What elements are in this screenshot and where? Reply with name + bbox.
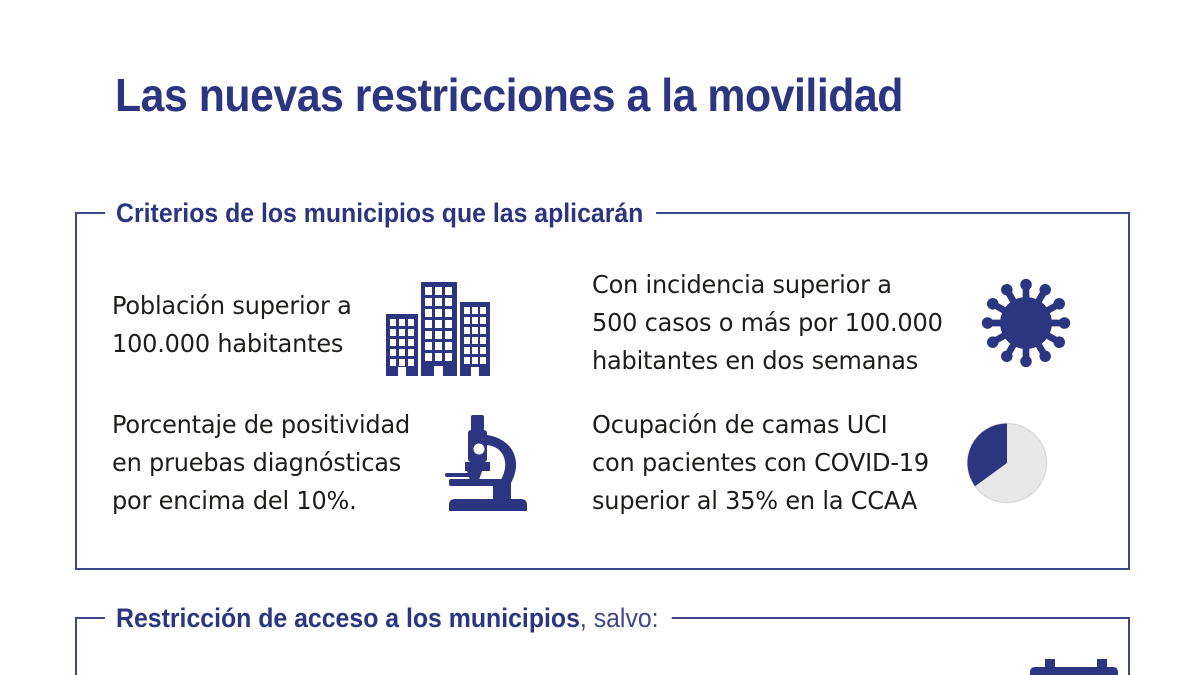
page-title: Las nuevas restricciones a la movilidad (115, 68, 903, 122)
criterion-incidencia-text: Con incidencia superior a 500 casos o má… (592, 266, 943, 380)
criterion-incidencia: Con incidencia superior a 500 casos o má… (592, 266, 1102, 380)
criterion-positividad: Porcentaje de positividad en pruebas dia… (112, 406, 582, 520)
criterion-positividad-line-2: en pruebas diagnósticas (112, 444, 410, 482)
criterion-uci-line-3: superior al 35% en la CCAA (592, 482, 929, 520)
criterion-poblacion-text: Población superior a 100.000 habitantes (112, 287, 352, 363)
criterion-uci-line-1: Ocupación de camas UCI (592, 406, 929, 444)
section-criterios: Criterios de los municipios que las apli… (75, 212, 1130, 570)
criterion-incidencia-line-2: 500 casos o más por 100.000 (592, 304, 943, 342)
criterion-poblacion-line-2: 100.000 habitantes (112, 325, 352, 363)
pie-chart-svg (964, 420, 1050, 506)
criterion-uci: Ocupación de camas UCI con pacientes con… (592, 406, 1102, 520)
section-restriccion-header-light: , salvo: (580, 603, 659, 633)
section-restriccion: Restricción de acceso a los municipios, … (75, 617, 1130, 675)
criterion-poblacion: Población superior a 100.000 habitantes (112, 266, 582, 384)
criterion-positividad-text: Porcentaje de positividad en pruebas dia… (112, 406, 410, 520)
criterion-incidencia-line-3: habitantes en dos semanas (592, 342, 943, 380)
section-restriccion-header: Restricción de acceso a los municipios, … (105, 602, 671, 634)
criterion-incidencia-line-1: Con incidencia superior a (592, 266, 943, 304)
criterion-uci-line-2: con pacientes con COVID-19 (592, 444, 929, 482)
section-restriccion-header-bold: Restricción de acceso a los municipios (116, 603, 580, 633)
pie-chart-icon (957, 420, 1057, 506)
criterion-positividad-line-1: Porcentaje de positividad (112, 406, 410, 444)
criterion-positividad-line-3: por encima del 10%. (112, 482, 410, 520)
criteria-grid: Población superior a 100.000 habitantes (77, 214, 1128, 568)
vehicle-icon (1015, 645, 1125, 675)
criterion-uci-text: Ocupación de camas UCI con pacientes con… (592, 406, 929, 520)
virus-icon (971, 275, 1081, 371)
microscope-icon (436, 411, 546, 515)
criterion-poblacion-line-1: Población superior a (112, 287, 352, 325)
buildings-icon (376, 266, 494, 384)
